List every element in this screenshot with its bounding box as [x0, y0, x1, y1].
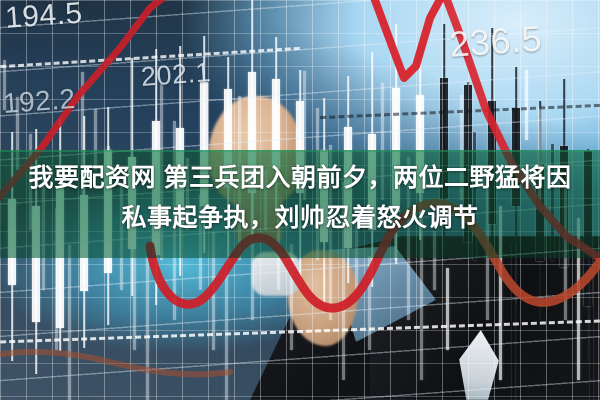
caption-band-edge	[0, 150, 600, 152]
axis-value-label-4: 236.5	[448, 18, 543, 66]
headline-line-2: 私事起争执，刘帅忍着怒火调节	[8, 198, 592, 238]
trend-line-tail	[0, 352, 230, 375]
axis-value-label-1: 194.5	[4, 0, 84, 36]
banner-image: 194.5 192.2 202.1 236.5 我要配资网 第三兵团入朝前夕，两…	[0, 0, 600, 400]
headline-line-1: 我要配资网 第三兵团入朝前夕，两位二野猛将因	[8, 158, 592, 198]
axis-value-label-2: 192.2	[2, 83, 77, 120]
trend-line-path-right	[372, 0, 444, 78]
axis-value-label-3: 202.1	[140, 57, 212, 93]
headline: 我要配资网 第三兵团入朝前夕，两位二野猛将因 私事起争执，刘帅忍着怒火调节	[0, 158, 600, 238]
